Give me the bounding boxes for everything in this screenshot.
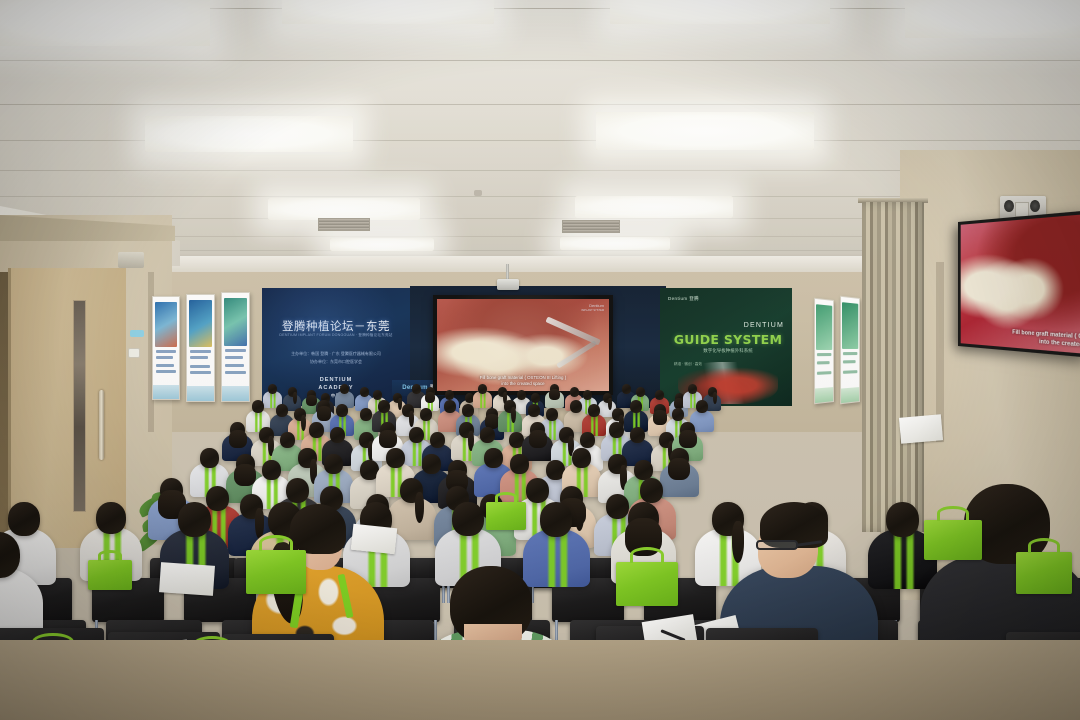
ceiling-light [0,0,210,46]
audience-head [378,400,390,413]
ceiling-light [560,237,670,250]
audience-head [570,400,582,413]
ceiling-light [596,112,814,150]
audience-head [510,454,529,474]
audience-head [280,432,295,448]
long-hair [653,410,667,425]
audience-head [630,400,642,413]
audience-head [386,448,405,468]
audience-head [526,478,549,503]
control-label [1015,202,1029,217]
audience-head [531,393,540,403]
green-tote-bag[interactable] [1016,552,1072,594]
audience-head [290,504,346,554]
green-tote-bag[interactable] [246,550,306,594]
audience-head [688,384,697,394]
guide-banner-subtitle: 数字化导板种植外科系统 [670,348,786,354]
ceiling-light [330,238,434,251]
audience-head [252,400,264,413]
guide-banner-headline: GUIDE SYSTEM [670,332,786,347]
green-tote-bag[interactable] [88,560,132,590]
handout-sheet[interactable] [159,562,215,596]
ceiling-tile-seam [0,104,1080,105]
forum-banner-line2: 协办单位：东莞市口腔医学会 [276,358,396,365]
ceiling-light [282,0,494,24]
tv-screen-content: Fill bone graft material ( O into the cr… [961,214,1080,354]
audience-head [360,408,372,421]
audience-head [540,502,572,537]
ponytail [608,398,612,410]
ceiling-sensor [474,190,482,196]
ceiling-light [610,0,830,24]
forum-banner-line1: 主办单位：韩国 登腾 · 广东 登腾医疗器械有限公司 [276,350,396,357]
air-vent [562,220,620,233]
green-lanyard [498,410,523,432]
audience-head [360,387,369,397]
audience-head [206,486,229,511]
audience-head [336,404,348,417]
ceiling-light [145,116,353,152]
long-hair [379,430,397,448]
seminar-room-photo: 登腾种植论坛－东莞 DENTIUM IMPLANT FORUM DONGGUAN… [0,0,1080,720]
green-tote-bag[interactable] [486,502,526,530]
audience-head [268,384,277,394]
wall-mounted-tv: Fill bone graft material ( O into the cr… [958,210,1080,358]
audience-head [262,460,281,480]
speaker-driver-icon [1030,200,1040,212]
screen-watermark-line2: IMPLANT SYSTEM [581,308,604,313]
projection-screen: Dentium IMPLANT SYSTEM Fill bone graft m… [433,295,613,395]
green-tote-bag[interactable] [616,562,678,606]
audience-head [422,454,441,474]
audience-head [572,448,591,468]
audience-head [696,400,708,413]
audience-head [8,502,40,536]
audience-head [622,384,631,394]
audience-head [528,404,540,417]
wall-sign-sticker [130,330,144,337]
audience-head [640,478,663,503]
audience-head [96,502,126,534]
audience-head [606,494,629,519]
audience-head [340,384,349,394]
green-tote-bag[interactable] [924,520,982,560]
speaker-driver-icon [1004,200,1014,212]
audience-head [588,404,600,417]
eyeglasses [756,540,798,550]
surgical-instrument-icon [556,341,596,369]
ceiling-projector [497,279,519,290]
audience-head [465,393,474,403]
audience-head [655,390,664,400]
audience-head [630,427,645,443]
audience-torso [498,410,523,432]
green-lanyard [473,391,492,407]
audience-head [409,427,424,443]
projection-screen-content: Dentium IMPLANT SYSTEM Fill bone graft m… [437,299,609,391]
audience-head [570,387,579,397]
audience-head [444,400,456,413]
audience-head [276,404,288,417]
long-hair [425,392,436,403]
audience-head [580,432,595,448]
audience-head [886,502,919,537]
audience-torso [473,391,492,407]
long-hair [317,406,331,421]
ponytail [415,492,424,523]
long-hair [306,395,317,406]
audience-head [412,384,421,394]
ceiling-light [905,0,1080,38]
forum-banner-subtitle: DENTIUM IMPLANT FORUM DONGGUAN · 登腾种植论坛东… [270,333,402,338]
tote-bag-handle [98,550,123,561]
audience-head [330,427,345,443]
tote-bag-handle [1028,538,1059,553]
long-hair [229,430,247,448]
audience-head [286,478,309,503]
audience-head [309,422,324,438]
ponytail [293,392,297,404]
ceiling-light [268,198,420,220]
tote-bag-handle [630,547,665,563]
audience-head [480,427,495,443]
audience-head [373,390,382,400]
audience-head [324,454,343,474]
audience-head [672,408,684,421]
ceiling-light [575,196,733,218]
audience-head [546,408,558,421]
audience-head [634,460,653,480]
audience-head [420,408,432,421]
audience-head [430,432,445,448]
green-lanyard [523,529,590,587]
audience-head [178,502,211,537]
tote-bag-handle [937,506,969,520]
long-hair [668,458,690,481]
handout-sheet[interactable] [351,524,397,554]
long-hair [529,430,547,448]
audience-head [583,390,592,400]
guide-banner-headline-small: DENTIUM [712,322,784,329]
long-hair [549,389,560,400]
ceiling-tile-seam [0,60,1080,61]
audience-head [478,384,487,394]
wall-device-box [118,252,144,268]
tote-bag-handle [495,492,517,502]
guide-banner-brand: Dentium 登腾 [668,296,699,302]
floor [0,640,1080,720]
audience-head [452,502,484,536]
audience-head [636,387,645,397]
handout-sheet[interactable] [899,414,943,444]
audience-head [200,448,219,468]
audience-head [517,390,526,400]
air-vent [318,218,370,231]
ponytail [713,392,717,404]
wall-sign-label [128,348,140,358]
chair-leg [442,586,445,603]
forum-banner-title: 登腾种植论坛－东莞 [268,318,404,334]
tote-bag-handle [259,535,293,551]
audience-head [484,448,503,468]
audience-head [445,390,454,400]
ceiling-soffit [150,256,940,272]
long-hair [679,430,697,448]
audience-torso [523,529,590,587]
audience-head [462,404,474,417]
audience-head [609,422,624,438]
